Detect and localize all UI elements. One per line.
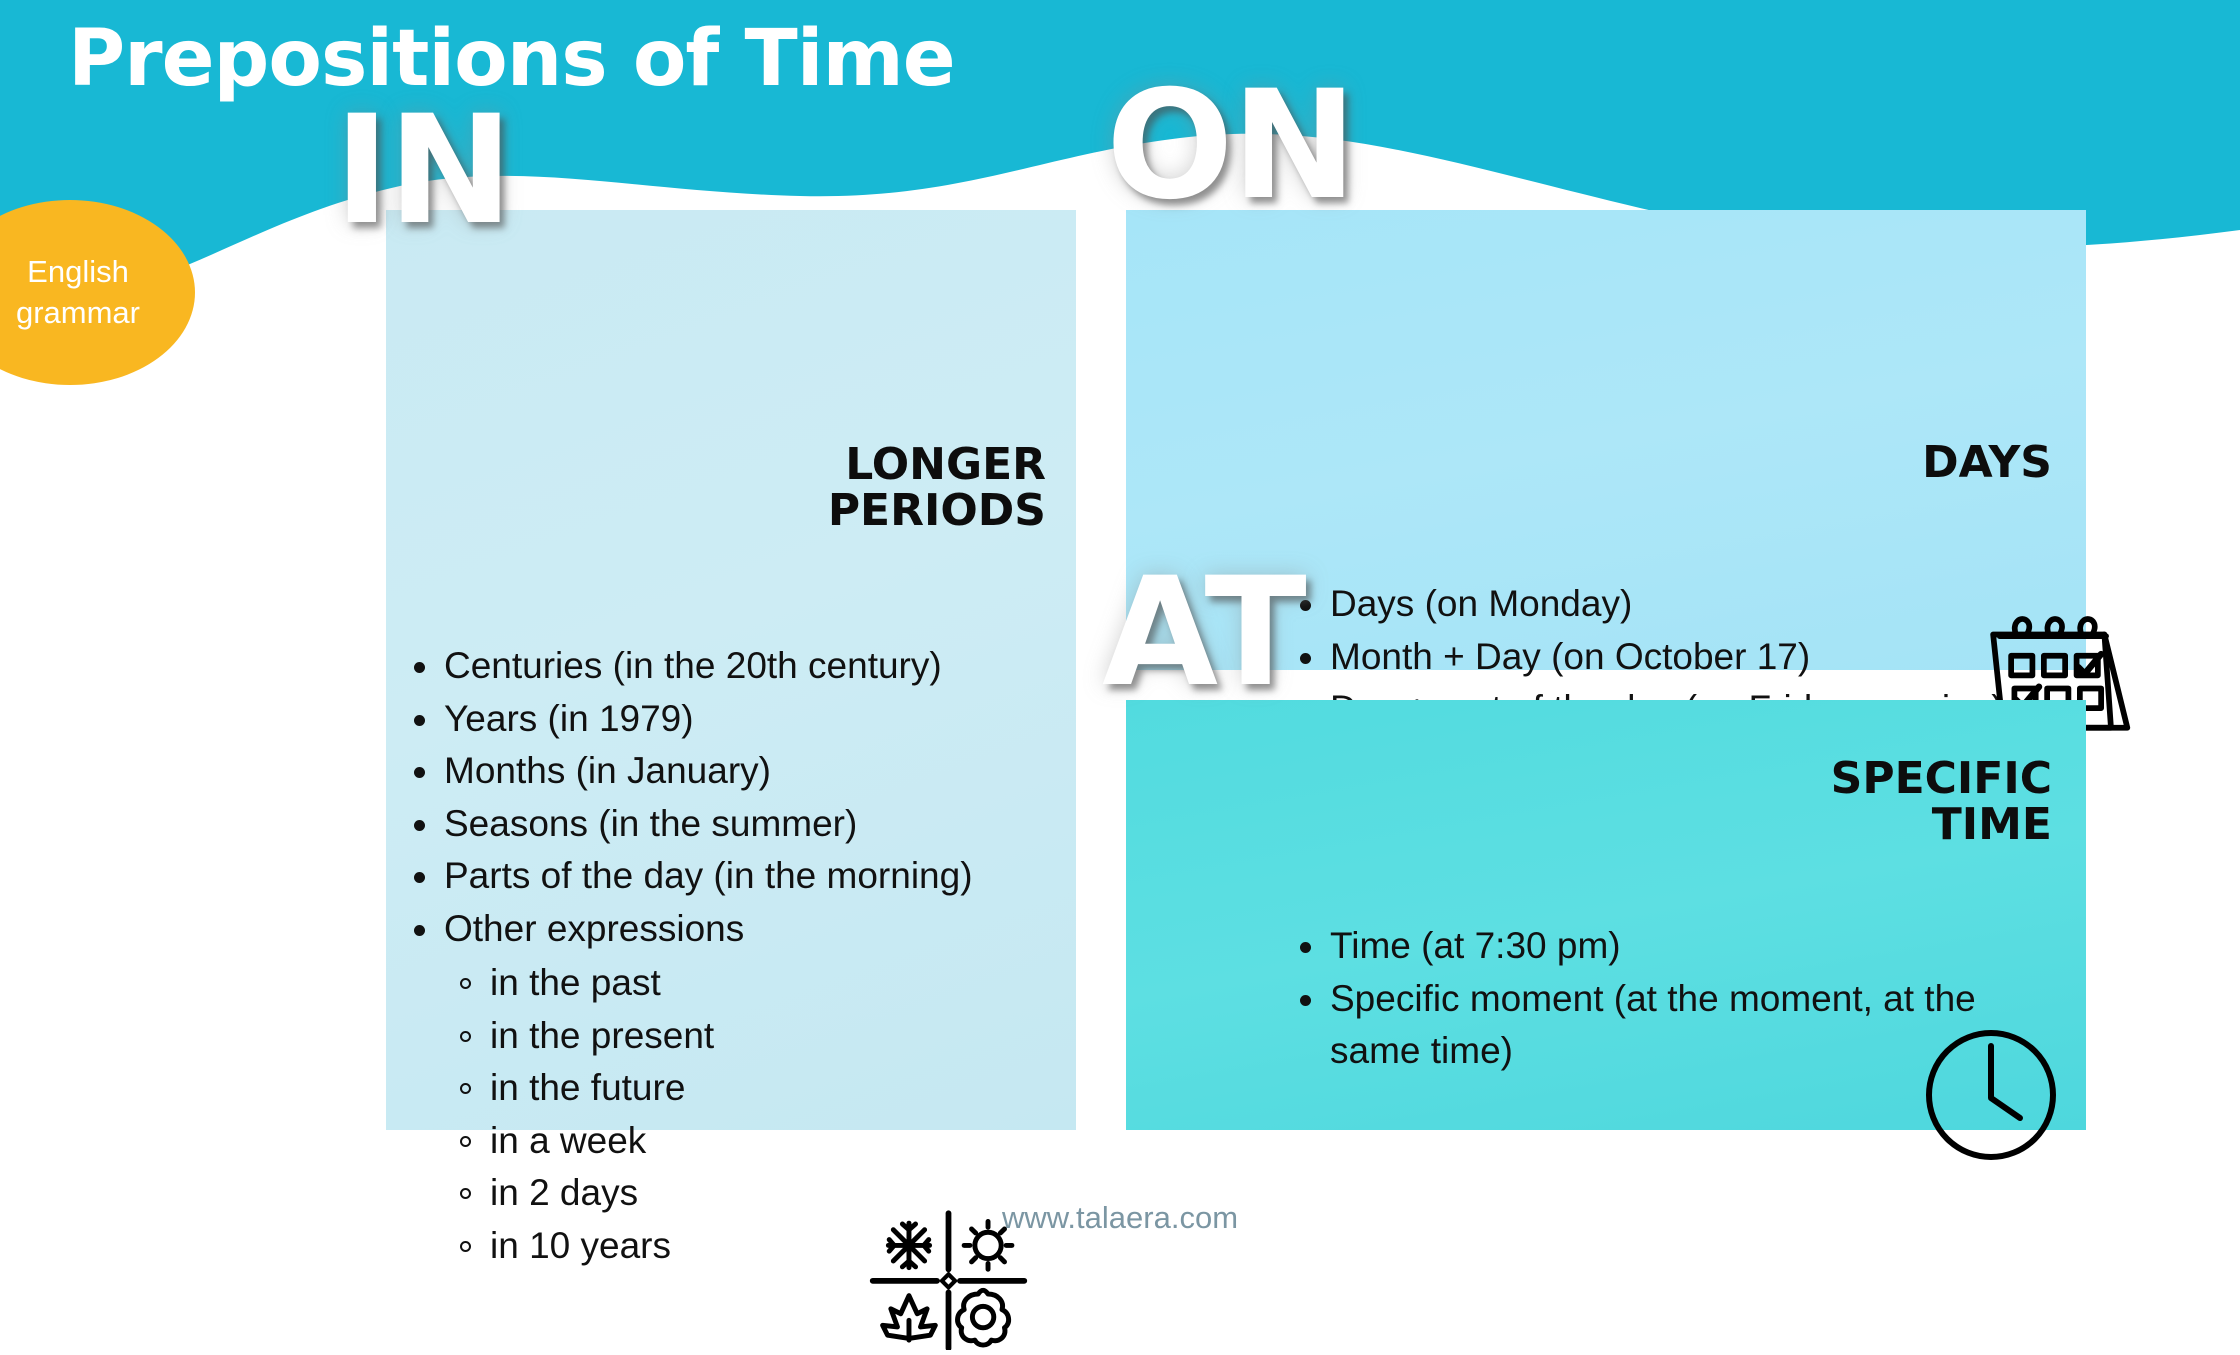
card-on-heading-line-1: DAYS [1712, 440, 2052, 486]
list-item-text: Seasons (in the summer) [444, 803, 857, 844]
list-item: Years (in 1979) [400, 693, 1066, 746]
footer-website: www.talaera.com [0, 1200, 2240, 1236]
page-title: Prepositions of Time [68, 14, 955, 104]
card-at-heading-line-1: SPECIFIC [1712, 756, 2052, 802]
card-in-list-zone: Centuries (in the 20th century) Years (i… [400, 640, 1066, 1272]
card-at-heading-line-2: TIME [1712, 802, 2052, 848]
clock-icon [1916, 1020, 2066, 1170]
list-item-text: Other expressions [444, 908, 744, 949]
card-in-heading: LONGER PERIODS [646, 442, 1046, 534]
list-item-text: Centuries (in the 20th century) [444, 645, 942, 686]
sub-list-item: in a week [444, 1115, 1066, 1168]
sub-list-item: in the future [444, 1062, 1066, 1115]
card-at-list: Time (at 7:30 pm) Specific moment (at th… [1286, 920, 2016, 1078]
card-in-list: Centuries (in the 20th century) Years (i… [400, 640, 1066, 1272]
card-in-heading-line-2: PERIODS [646, 488, 1046, 534]
badge-line-2: grammar [16, 293, 140, 333]
list-item-text: Parts of the day (in the morning) [444, 855, 973, 896]
list-item: Centuries (in the 20th century) [400, 640, 1066, 693]
list-item: Parts of the day (in the morning) [400, 850, 1066, 903]
list-item: Months (in January) [400, 745, 1066, 798]
card-at-list-zone: Time (at 7:30 pm) Specific moment (at th… [1286, 920, 2016, 1078]
card-in-word: IN [334, 100, 511, 243]
card-on-word: ON [1106, 75, 1355, 218]
list-item: Specific moment (at the moment, at the s… [1286, 973, 2016, 1078]
card-at-heading: SPECIFIC TIME [1712, 756, 2052, 848]
list-item: Time (at 7:30 pm) [1286, 920, 2016, 973]
english-grammar-badge: English grammar [0, 200, 195, 385]
card-on-heading: DAYS [1712, 440, 2052, 486]
badge-line-1: English [27, 252, 129, 292]
list-item: Month + Day (on October 17) [1286, 631, 2056, 684]
sub-list-item: in the present [444, 1010, 1066, 1063]
sub-list-item: in the past [444, 957, 1066, 1010]
list-item-text: Years (in 1979) [444, 698, 694, 739]
preposition-card-at: AT SPECIFIC TIME Time (at 7:30 pm) Speci… [1126, 700, 2086, 1130]
list-item-text: Months (in January) [444, 750, 771, 791]
card-in-heading-line-1: LONGER [646, 442, 1046, 488]
list-item: Seasons (in the summer) [400, 798, 1066, 851]
list-item: Days (on Monday) [1286, 578, 2056, 631]
card-at-word: AT [1102, 562, 1305, 705]
preposition-card-in: IN LONGER PERIODS Centuries (in the 20th… [386, 210, 1076, 1130]
